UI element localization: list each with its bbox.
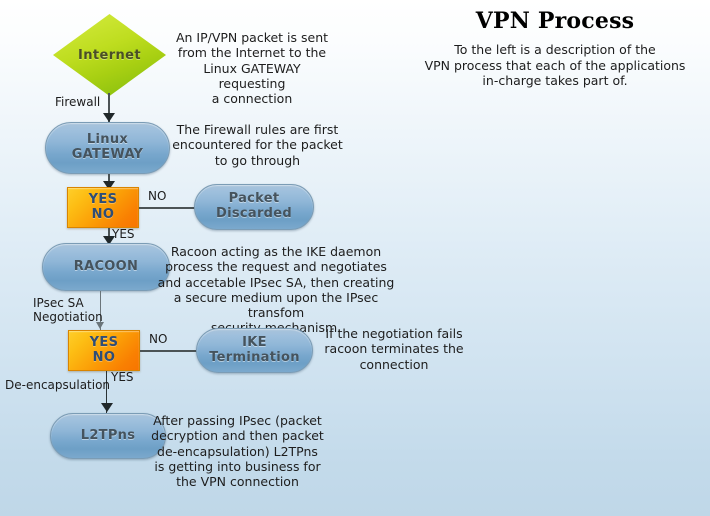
edge-label-yes-1: YES (112, 227, 135, 241)
edge-label-no-1: NO (148, 189, 166, 203)
node-racoon-label: RACOON (74, 260, 138, 275)
node-packet-discarded[interactable]: Packet Discarded (194, 184, 314, 230)
node-internet[interactable]: Internet (53, 14, 166, 96)
description-racoon: Racoon acting as the IKE daemon process … (155, 244, 397, 336)
arrowhead-icon (103, 113, 115, 122)
edge-label-ipsec-sa-negotiation: IPsec SA Negotiation (33, 296, 103, 325)
node-linux-gateway[interactable]: Linux GATEWAY (45, 122, 170, 174)
description-l2tpns: After passing IPsec (packet decryption a… (150, 413, 325, 489)
page-title: VPN Process (400, 8, 710, 34)
edge-label-firewall: Firewall (55, 95, 100, 109)
node-racoon[interactable]: RACOON (42, 243, 170, 291)
node-decision-firewall-no: NO (92, 208, 115, 223)
arrowhead-icon (101, 403, 113, 412)
node-l2tpns[interactable]: L2TPns (50, 413, 166, 459)
node-decision-ipsec-yes: YES (90, 336, 119, 351)
connector-decision2-ike (140, 350, 197, 352)
node-decision-ipsec-no: NO (93, 351, 116, 366)
title-block: VPN Process To the left is a description… (400, 8, 710, 89)
description-internet: An IP/VPN packet is sent from the Intern… (168, 30, 336, 106)
diagram-canvas: VPN Process To the left is a description… (0, 0, 710, 516)
node-ike-termination[interactable]: IKE Termination (196, 328, 313, 373)
node-decision-firewall-yes: YES (89, 193, 118, 208)
connector-decision1-discarded (139, 207, 195, 209)
description-ike-termination: If the negotiation fails racoon terminat… (315, 326, 473, 372)
edge-label-no-2: NO (149, 332, 167, 346)
node-decision-firewall[interactable]: YES NO (67, 187, 139, 228)
page-subtitle: To the left is a description of the VPN … (400, 42, 710, 89)
edge-label-yes-2: YES (111, 370, 134, 384)
node-decision-ipsec[interactable]: YES NO (68, 330, 140, 371)
node-ike-termination-label: IKE Termination (209, 336, 300, 365)
node-packet-discarded-label: Packet Discarded (216, 192, 292, 221)
description-gateway: The Firewall rules are first encountered… (170, 122, 345, 168)
edge-label-de-encapsulation: De-encapsulation (5, 378, 110, 392)
node-l2tpns-label: L2TPns (81, 429, 136, 444)
node-linux-gateway-label: Linux GATEWAY (72, 133, 144, 162)
node-internet-label: Internet (53, 14, 166, 96)
